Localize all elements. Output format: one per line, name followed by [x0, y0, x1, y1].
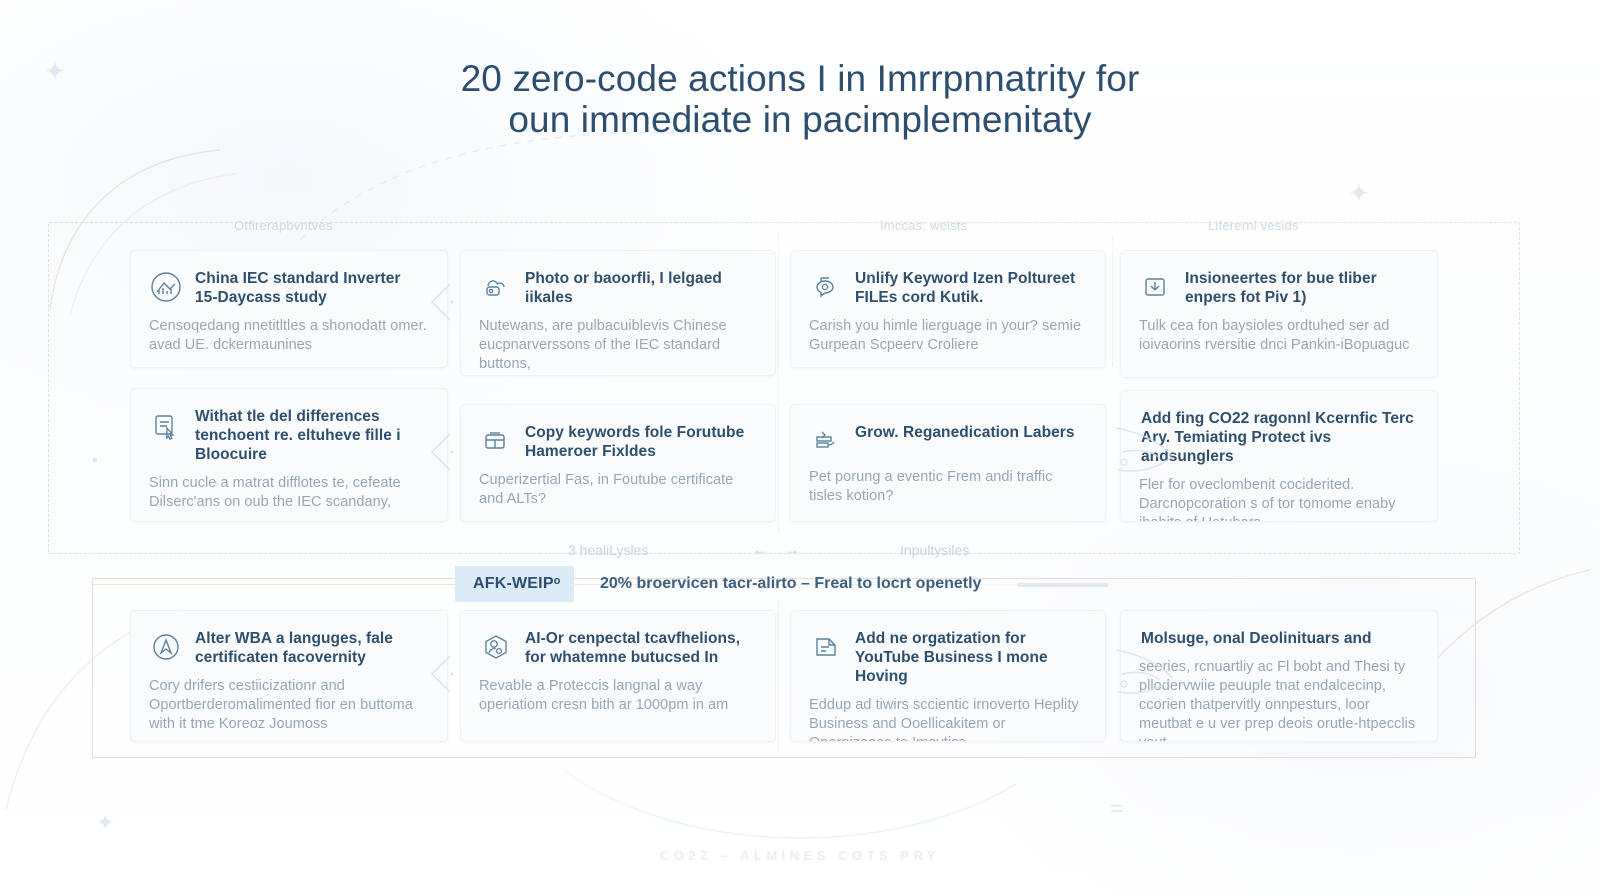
table-copy-icon — [479, 424, 513, 458]
highlight-band: AFK-WEIPᵒ 20% broervicen tacr-alirto – F… — [92, 566, 1110, 602]
card-body: Eddup ad tiwirs sccientic irnoverto Hepl… — [809, 696, 1085, 742]
card-title: Molsuge, onal Deolinituars and — [1141, 629, 1372, 648]
card-header: Withat tle del differences tenchoent re.… — [149, 407, 427, 464]
card-title: Withat tle del differences tenchoent re.… — [195, 407, 427, 464]
card-item[interactable]: AI-Or cenpectal tcavfhelions, for whatem… — [460, 610, 776, 742]
band-tail — [1017, 583, 1109, 587]
compass-circle-icon — [149, 630, 183, 664]
card-item[interactable]: Grow. Reganedication Labers Pet porung a… — [790, 404, 1106, 522]
card-item[interactable]: Copy keywords fole Forutube Hameroer Fix… — [460, 404, 776, 522]
card-item[interactable]: Insioneertes for bue tliber enpers fot P… — [1120, 250, 1438, 378]
card-header: Add ne orgatization for YouTube Business… — [809, 629, 1085, 686]
column-header-3: Liferernl vesids — [1208, 218, 1299, 233]
document-cursor-icon — [149, 408, 183, 442]
card-title: Unlify Keyword Izen Poltureet FILEs cord… — [855, 269, 1085, 307]
card-header: Add fing CO22 ragonnl Kcernfic Terc Ary.… — [1139, 409, 1417, 466]
card-body: Pet porung a eventic Frem andi traffic t… — [809, 468, 1085, 506]
growth-layers-icon — [809, 424, 843, 458]
status-badge-label: AFK-WEIPᵒ — [473, 575, 560, 593]
card-title: Grow. Reganedication Labers — [855, 423, 1075, 442]
card-header: Copy keywords fole Forutube Hameroer Fix… — [479, 423, 755, 461]
card-title: China IEC standard Inverter 15-Daycass s… — [195, 269, 427, 307]
card-header: Unlify Keyword Izen Poltureet FILEs cord… — [809, 269, 1085, 307]
card-body: Censoqedang nnetitltles a shonodatt omer… — [149, 317, 427, 355]
mid-arrows[interactable]: ←→ — [752, 540, 814, 560]
sparkle-icon: ✦ — [1348, 180, 1370, 206]
card-body: Carish you himle lierguage in your? semi… — [809, 317, 1085, 355]
card-header: Photo or baoorfli, I lelgaed iikales — [479, 269, 755, 307]
card-title: Insioneertes for bue tliber enpers fot P… — [1185, 269, 1417, 307]
sparkle-icon: ✦ — [96, 812, 114, 834]
page-title-line-1: 20 zero-code actions I in Imrrpnnatrity … — [0, 58, 1600, 99]
chart-mountain-icon — [149, 270, 183, 304]
footer-text: CO2Z – ALMINES COTS PRY — [0, 848, 1600, 863]
card-title: Add ne orgatization for YouTube Business… — [855, 629, 1085, 686]
card-title: Photo or baoorfli, I lelgaed iikales — [525, 269, 755, 307]
card-header: Alter WBA a languges, fale certificaten … — [149, 629, 427, 667]
card-body: Cory drifers cestiicizationr and Oportbe… — [149, 677, 427, 734]
card-header: Grow. Reganedication Labers — [809, 423, 1085, 458]
mid-label-right: Inpultysiles — [900, 542, 969, 558]
card-item[interactable]: Add fing CO22 ragonnl Kcernfic Terc Ary.… — [1120, 390, 1438, 522]
card-item[interactable]: Unlify Keyword Izen Poltureet FILEs cord… — [790, 250, 1106, 368]
card-body: Cuperizertial Fas, in Foutube certificat… — [479, 471, 755, 509]
ai-person-icon — [479, 630, 513, 664]
page-title-line-2: oun immediate in pacimplemenitaty — [0, 99, 1600, 140]
column-header-1: Otfirerapbvntves — [234, 218, 333, 233]
card-header: Insioneertes for bue tliber enpers fot P… — [1139, 269, 1417, 307]
card-body: Revable a Proteccis langnal a way operia… — [479, 677, 755, 715]
download-folder-icon — [1139, 270, 1173, 304]
card-header: China IEC standard Inverter 15-Daycass s… — [149, 269, 427, 307]
column-separator — [778, 232, 779, 532]
card-item[interactable]: China IEC standard Inverter 15-Daycass s… — [130, 250, 448, 368]
card-header: AI-Or cenpectal tcavfhelions, for whatem… — [479, 629, 755, 667]
column-header-2: Imccas: weists — [880, 218, 967, 233]
band-note: 20% broervicen tacr-alirto – Freal to lo… — [600, 566, 981, 602]
card-title: Add fing CO22 ragonnl Kcernfic Terc Ary.… — [1141, 409, 1417, 466]
mid-label-left: 3 healiLysles — [568, 542, 648, 558]
column-separator — [778, 600, 779, 750]
card-header: Molsuge, onal Deolinituars and — [1139, 629, 1417, 648]
card-body: Fler for oveclombenit cociderited. Darcn… — [1139, 476, 1417, 522]
card-item[interactable]: Alter WBA a languges, fale certificaten … — [130, 610, 448, 742]
card-title: AI-Or cenpectal tcavfhelions, for whatem… — [525, 629, 755, 667]
card-item[interactable]: Molsuge, onal Deolinituars and seeries, … — [1120, 610, 1438, 742]
card-item[interactable]: Add ne orgatization for YouTube Business… — [790, 610, 1106, 742]
keyword-speech-icon — [809, 270, 843, 304]
column-separator — [1112, 236, 1113, 366]
card-title: Copy keywords fole Forutube Hameroer Fix… — [525, 423, 755, 461]
card-body: Nutewans, are pulbacuiblevis Chinese euc… — [479, 317, 755, 374]
arrow-right-icon[interactable]: → — [783, 540, 814, 559]
status-badge[interactable]: AFK-WEIPᵒ — [455, 566, 574, 602]
card-title: Alter WBA a languges, fale certificaten … — [195, 629, 427, 667]
card-body: Tulk cea fon baysioles ordtuhed ser ad i… — [1139, 317, 1417, 355]
photo-cloud-icon — [479, 270, 513, 304]
card-item[interactable]: Photo or baoorfli, I lelgaed iikales Nut… — [460, 250, 776, 376]
note-lines-icon — [809, 630, 843, 664]
arrow-left-icon[interactable]: ← — [752, 540, 783, 559]
card-item[interactable]: Withat tle del differences tenchoent re.… — [130, 388, 448, 522]
page-title: 20 zero-code actions I in Imrrpnnatrity … — [0, 58, 1600, 140]
card-body: seeries, rcnuartliy ac Fl bobt and Thesi… — [1139, 658, 1417, 742]
equals-mark-icon: = — [1110, 796, 1123, 822]
card-body: Sinn cucle a matrat difflotes te, cefeat… — [149, 474, 427, 512]
